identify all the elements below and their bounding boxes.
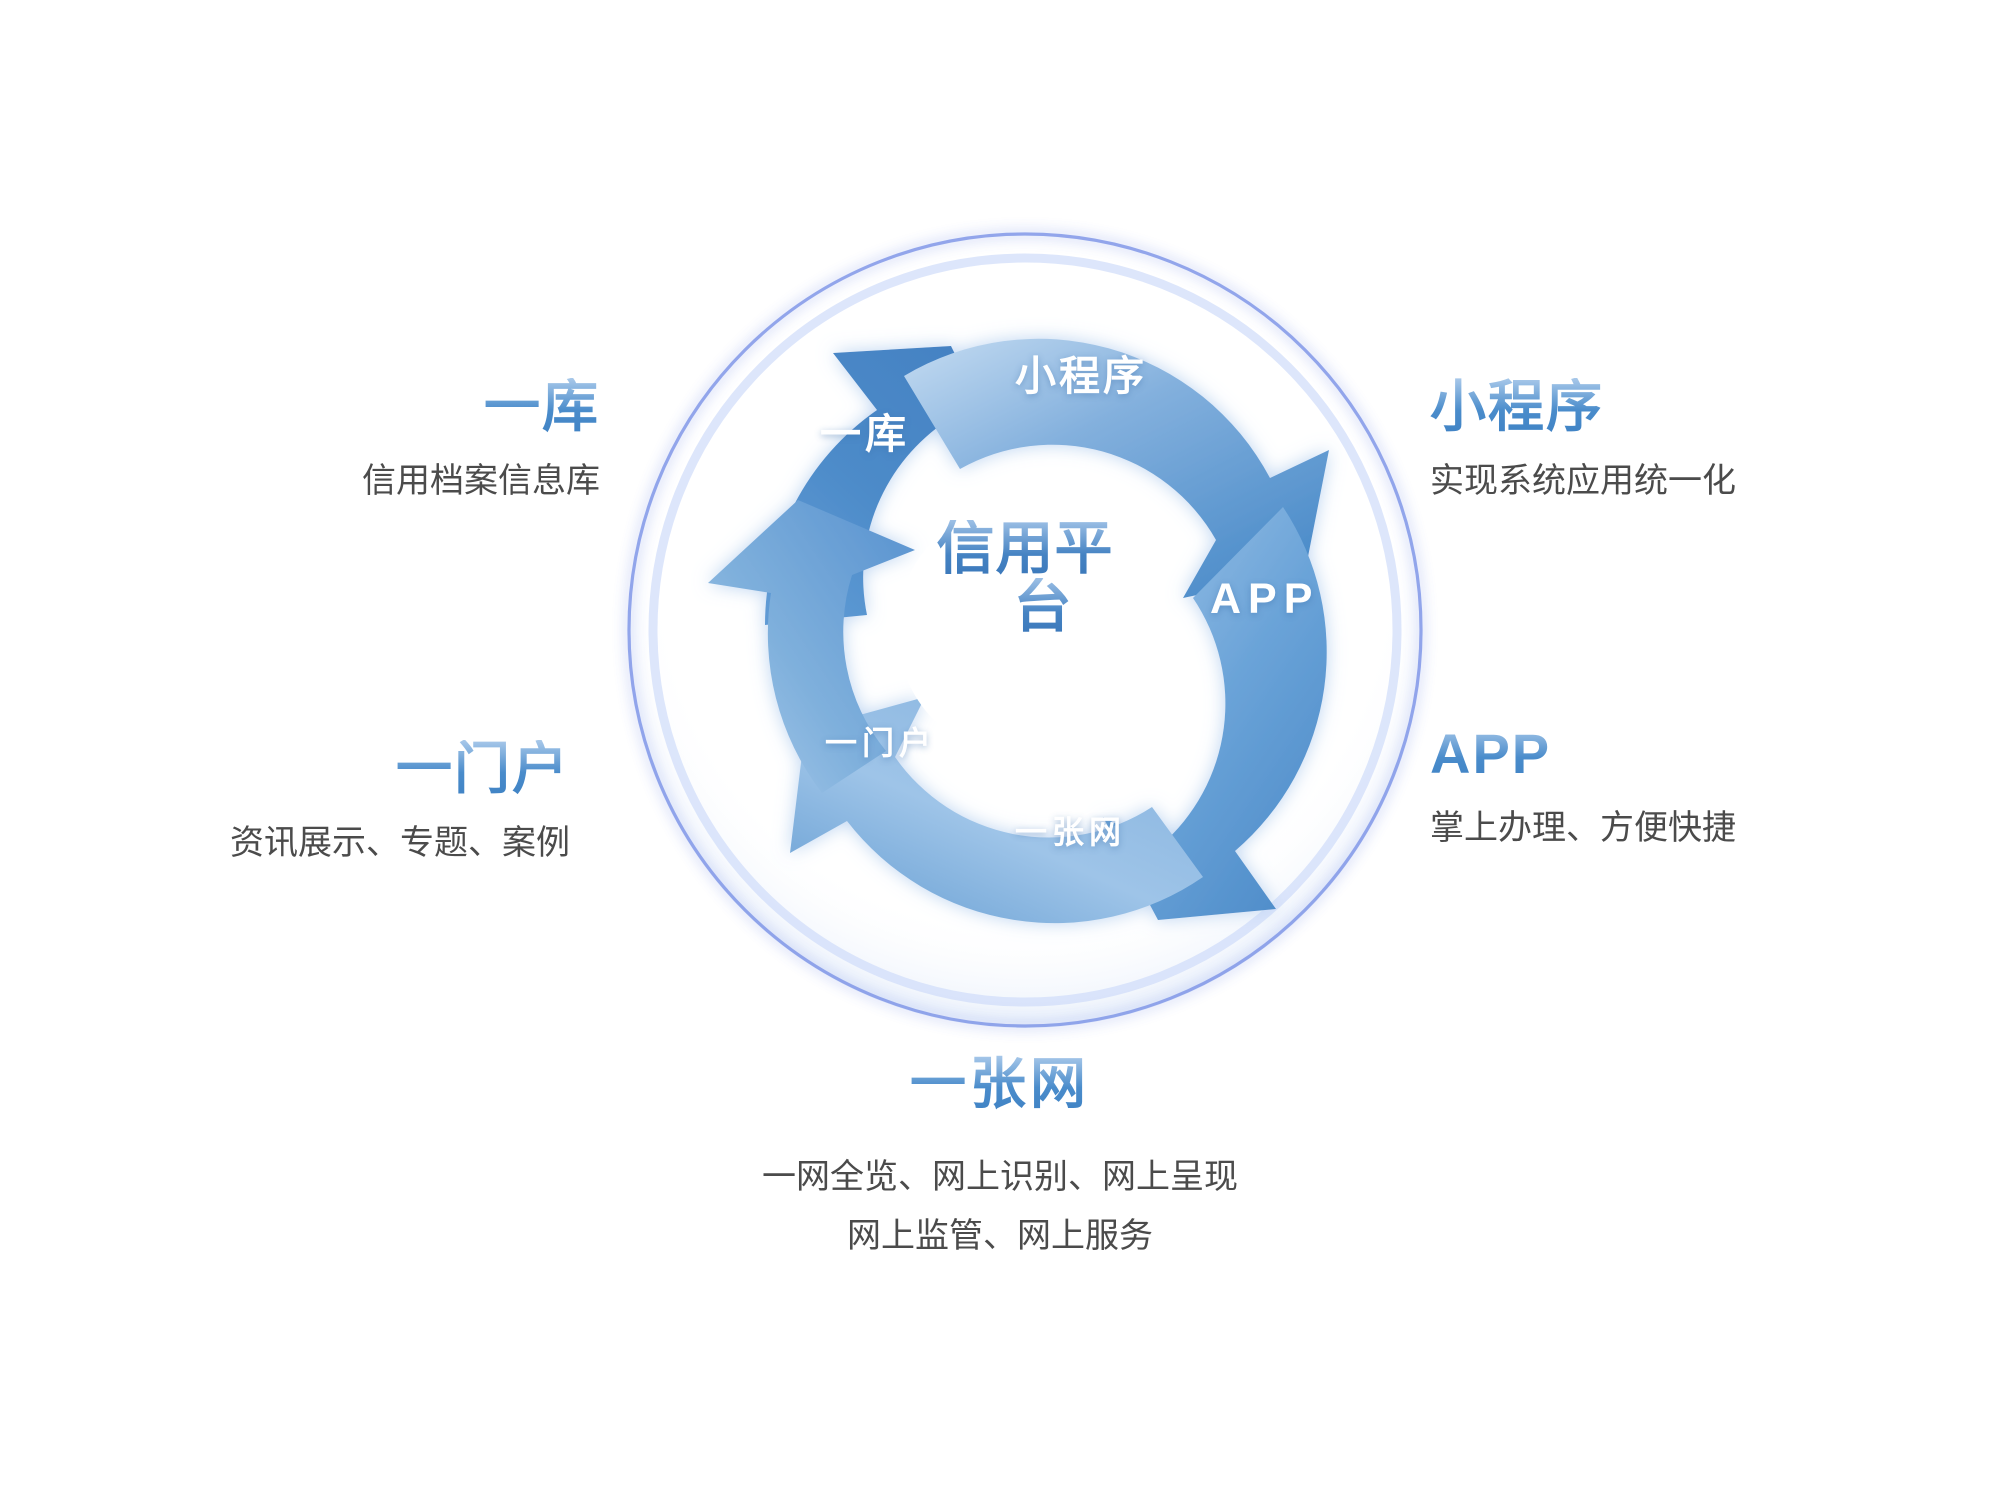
- cycle-wheel-diagram: 一库 小程序 APP 一张网 一门户 信用平 台: [615, 220, 1435, 1040]
- label-desc-app: 掌上办理、方便快捷: [1430, 804, 1736, 853]
- label-desc-yizhangwang-line1: 一网全览、网上识别、网上呈现: [0, 1148, 2000, 1208]
- label-heading-yiku: 一库: [362, 378, 600, 437]
- label-block-xiaochengxu: 小程序 实现系统应用统一化: [1430, 378, 1736, 506]
- label-block-yizhangwang: 一张网 一网全览、网上识别、网上呈现 网上监管、网上服务: [0, 1055, 2000, 1267]
- label-heading-yizhangwang: 一张网: [0, 1055, 2000, 1114]
- label-heading-xiaochengxu: 小程序: [1430, 378, 1736, 437]
- label-heading-app: APP: [1430, 725, 1736, 784]
- label-heading-yimenhu: 一门户: [230, 740, 570, 799]
- label-block-yimenhu: 一门户 资讯展示、专题、案例: [230, 740, 570, 868]
- label-desc-xiaochengxu: 实现系统应用统一化: [1430, 457, 1736, 506]
- label-desc-yimenhu: 资讯展示、专题、案例: [230, 819, 570, 868]
- center-hub: [897, 502, 1153, 758]
- label-desc-yizhangwang-line2: 网上监管、网上服务: [0, 1207, 2000, 1267]
- cycle-wheel-svg: [615, 220, 1435, 1040]
- label-desc-yizhangwang: 一网全览、网上识别、网上呈现 网上监管、网上服务: [0, 1148, 2000, 1267]
- label-block-app: APP 掌上办理、方便快捷: [1430, 725, 1736, 853]
- label-block-yiku: 一库 信用档案信息库: [362, 378, 600, 506]
- label-desc-yiku: 信用档案信息库: [362, 457, 600, 506]
- diagram-canvas: 一库 信用档案信息库 一门户 资讯展示、专题、案例 小程序 实现系统应用统一化 …: [0, 0, 2000, 1500]
